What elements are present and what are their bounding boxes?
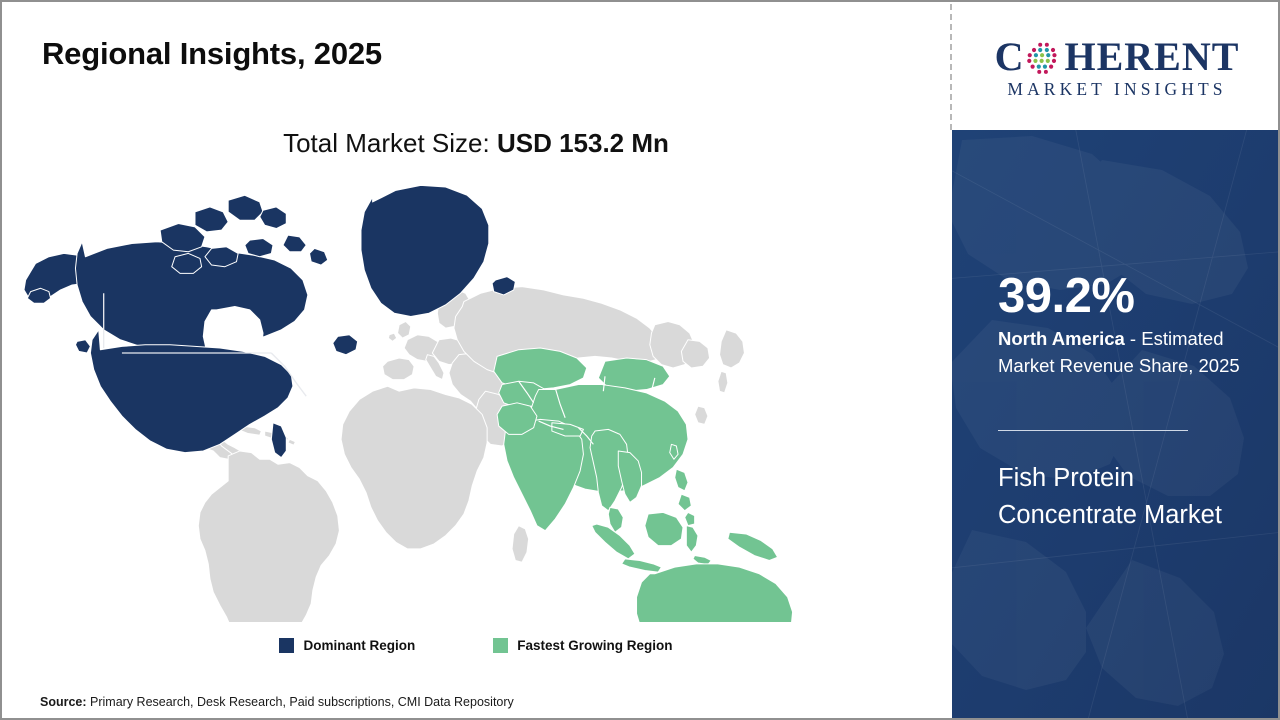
total-market-size-label: Total Market Size: bbox=[283, 128, 497, 158]
stat-caption: North America - Estimated Market Revenue… bbox=[998, 326, 1270, 380]
legend-swatch-fastest-growing bbox=[493, 638, 508, 653]
legend-item-dominant: Dominant Region bbox=[279, 638, 415, 653]
logo-word-part-1: C bbox=[995, 37, 1025, 77]
total-market-size: Total Market Size: USD 153.2 Mn bbox=[2, 128, 950, 159]
map-region-asia-pacific bbox=[494, 348, 824, 622]
regional-insights-infographic: Regional Insights, 2025 Total Market Siz… bbox=[0, 0, 1280, 720]
logo-area: C bbox=[952, 2, 1280, 130]
source-note: Source: Primary Research, Desk Research,… bbox=[40, 695, 514, 709]
map-legend: Dominant Region Fastest Growing Region bbox=[2, 638, 950, 653]
legend-label-dominant: Dominant Region bbox=[303, 638, 415, 653]
stat-region-name: North America bbox=[998, 328, 1125, 349]
main-panel: Regional Insights, 2025 Total Market Siz… bbox=[2, 2, 950, 720]
source-label: Source: bbox=[40, 695, 87, 709]
stat-percentage: 39.2% bbox=[998, 272, 1134, 321]
stat-divider-rule bbox=[998, 430, 1188, 431]
stat-sidebar: 39.2% North America - Estimated Market R… bbox=[952, 130, 1280, 720]
legend-swatch-dominant bbox=[279, 638, 294, 653]
world-map-container bbox=[24, 177, 854, 622]
legend-item-fastest-growing: Fastest Growing Region bbox=[493, 638, 672, 653]
globe-dots-icon bbox=[1025, 40, 1063, 78]
page-title: Regional Insights, 2025 bbox=[42, 36, 382, 72]
logo-tagline: MARKET INSIGHTS bbox=[967, 81, 1267, 99]
logo-word-part-2: HERENT bbox=[1064, 37, 1239, 77]
market-name: Fish Protein Concentrate Market bbox=[998, 460, 1248, 533]
world-map-svg bbox=[24, 177, 854, 622]
sidebar-content: 39.2% North America - Estimated Market R… bbox=[998, 130, 1266, 720]
total-market-size-value: USD 153.2 Mn bbox=[497, 128, 669, 158]
legend-label-fastest-growing: Fastest Growing Region bbox=[517, 638, 672, 653]
coherent-market-insights-logo: C bbox=[967, 33, 1267, 99]
source-text: Primary Research, Desk Research, Paid su… bbox=[87, 695, 514, 709]
logo-wordmark: C bbox=[967, 37, 1267, 77]
